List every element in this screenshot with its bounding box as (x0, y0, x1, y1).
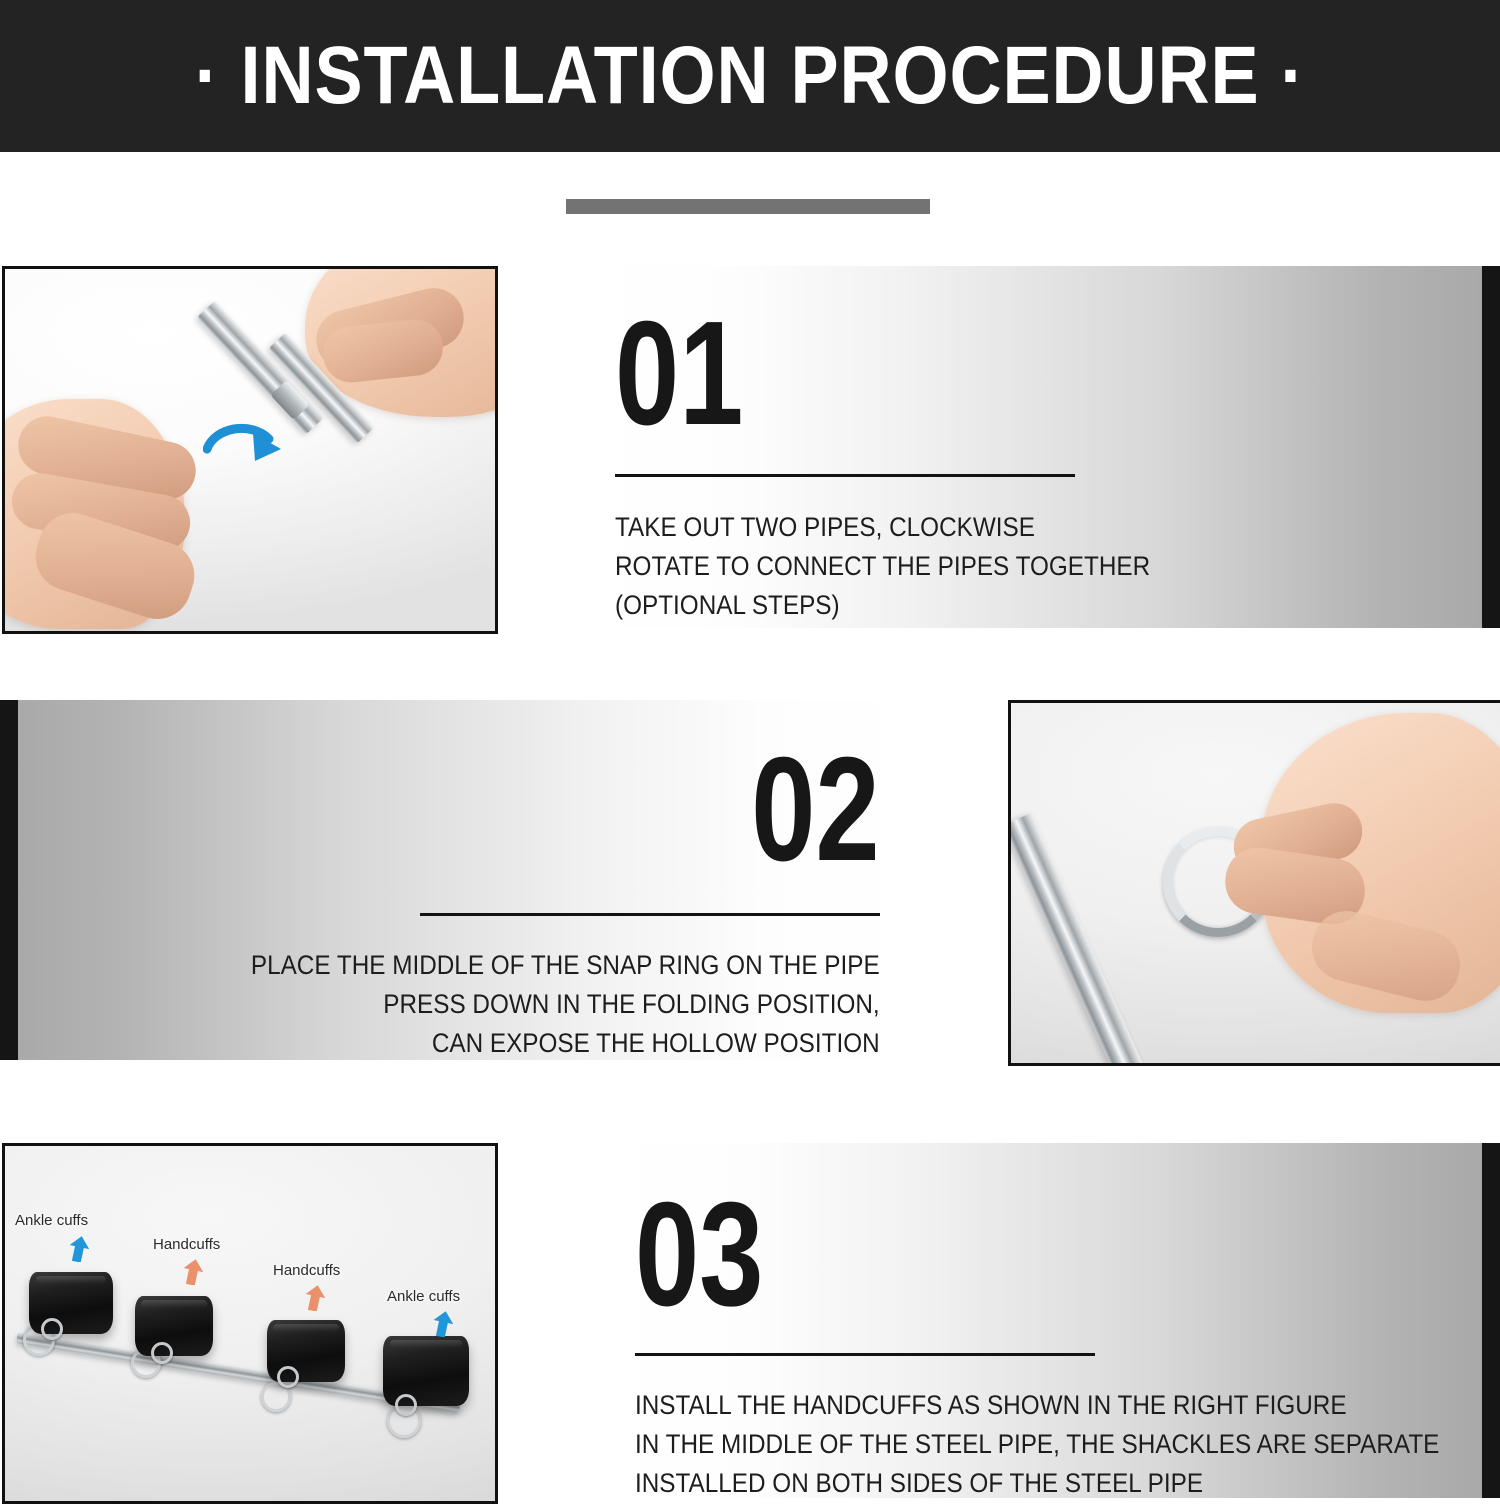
cuff-item (135, 1296, 213, 1356)
step-03-line-2: IN THE MIDDLE OF THE STEEL PIPE, THE SHA… (635, 1425, 1439, 1464)
panel-edge-accent (1482, 1143, 1500, 1498)
step-03-line-1: INSTALL THE HANDCUFFS AS SHOWN IN THE RI… (635, 1386, 1439, 1425)
step-01-description: TAKE OUT TWO PIPES, CLOCKWISE ROTATE TO … (615, 508, 1150, 625)
callout-label-handcuffs-left: Handcuffs (153, 1236, 220, 1253)
callout-label-ankle-cuffs-left: Ankle cuffs (15, 1212, 88, 1229)
step-02-line-1: PLACE THE MIDDLE OF THE SNAP RING ON THE… (251, 946, 880, 985)
step-01-line-2: ROTATE TO CONNECT THE PIPES TOGETHER (615, 547, 1150, 586)
step-02-panel: 02 PLACE THE MIDDLE OF THE SNAP RING ON … (0, 700, 905, 1060)
step-02-photo (1008, 700, 1500, 1066)
header-banner: · INSTALLATION PROCEDURE · (0, 0, 1500, 152)
callout-label-handcuffs-right: Handcuffs (273, 1262, 340, 1279)
rotate-direction-arrow-icon (203, 419, 293, 467)
callout-arrow-up-icon (183, 1259, 203, 1285)
callout-arrow-up-icon (433, 1311, 453, 1337)
cuff-d-ring (151, 1342, 173, 1364)
cuff-d-ring (395, 1394, 417, 1416)
cuff-item (383, 1336, 469, 1406)
cuff-d-ring (41, 1318, 63, 1340)
step-02-line-2: PRESS DOWN IN THE FOLDING POSITION, (251, 985, 880, 1024)
panel-edge-accent (0, 700, 18, 1060)
step-01-panel: 01 TAKE OUT TWO PIPES, CLOCKWISE ROTATE … (595, 266, 1500, 628)
step-02-description: PLACE THE MIDDLE OF THE SNAP RING ON THE… (251, 946, 880, 1063)
panel-edge-accent (1482, 266, 1500, 628)
step-03-description: INSTALL THE HANDCUFFS AS SHOWN IN THE RI… (635, 1386, 1439, 1503)
step-02-number: 02 (752, 736, 880, 884)
step-03-number: 03 (635, 1181, 763, 1329)
step-01-number: 01 (615, 300, 743, 448)
page-title: · INSTALLATION PROCEDURE · (195, 35, 1306, 117)
step-03-panel: 03 INSTALL THE HANDCUFFS AS SHOWN IN THE… (615, 1143, 1500, 1498)
callout-arrow-up-icon (305, 1285, 325, 1311)
step-03-line-3: INSTALLED ON BOTH SIDES OF THE STEEL PIP… (635, 1464, 1439, 1503)
callout-label-ankle-cuffs-right: Ankle cuffs (387, 1288, 460, 1305)
step-01-photo (2, 266, 498, 634)
cuff-d-ring (277, 1366, 299, 1388)
step-03-rule (635, 1353, 1095, 1356)
decorative-divider-bar (566, 199, 930, 214)
step-02-line-3: CAN EXPOSE THE HOLLOW POSITION (251, 1024, 880, 1063)
step-03-photo: Ankle cuffs Handcuffs Handcuffs Ankle cu… (2, 1143, 498, 1504)
step-01-line-3: (OPTIONAL STEPS) (615, 586, 1150, 625)
step-01-rule (615, 474, 1075, 477)
step-01-line-1: TAKE OUT TWO PIPES, CLOCKWISE (615, 508, 1150, 547)
callout-arrow-up-icon (69, 1236, 89, 1262)
step-02-rule (420, 913, 880, 916)
